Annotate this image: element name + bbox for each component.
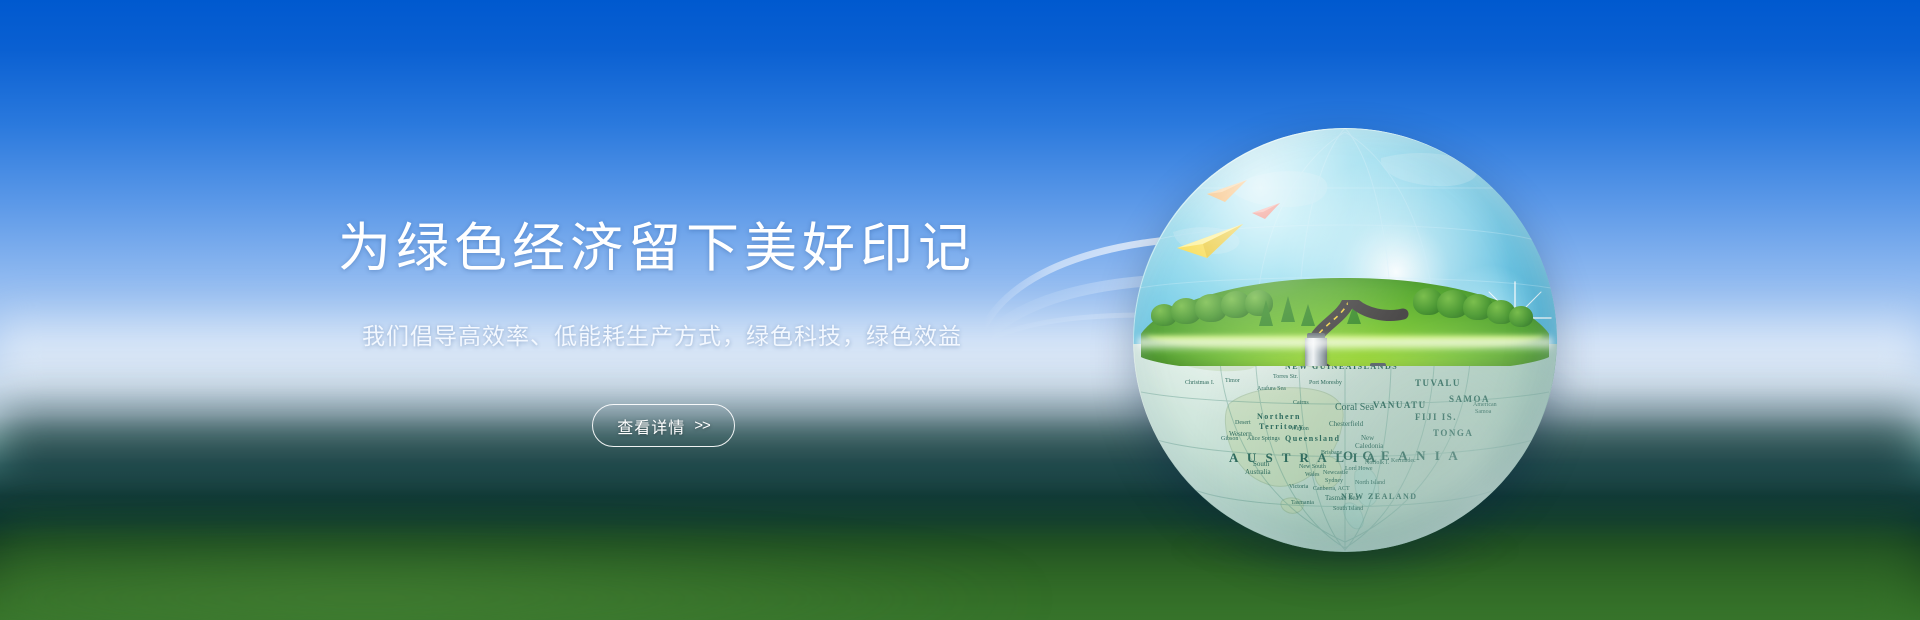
paper-plane-yellow-icon [1175,222,1245,260]
view-details-label: 查看详情 [617,414,685,438]
banner-headline: 为绿色经济留下美好印记 [338,222,976,275]
view-details-button[interactable]: 查看详情 >> [592,404,735,447]
island-landscape [1141,274,1549,366]
double-chevron-right-icon: >> [694,417,710,434]
paper-plane-orange-icon [1205,178,1249,204]
banner-subheadline: 我们倡导高效率、低能耗生产方式，绿色科技，绿色效益 [362,325,962,348]
globe-illustration: North Pacific OceanMidwayWake IslandLuzo… [1133,128,1557,560]
globe-sphere: North Pacific OceanMidwayWake IslandLuzo… [1133,128,1557,552]
city-skyline [1259,282,1449,366]
paper-plane-red-icon [1251,202,1281,220]
banner-copy: 为绿色经济留下美好印记 我们倡导高效率、低能耗生产方式，绿色科技，绿色效益 查看… [0,0,1100,620]
hero-banner: North Pacific OceanMidwayWake IslandLuzo… [0,0,1920,620]
